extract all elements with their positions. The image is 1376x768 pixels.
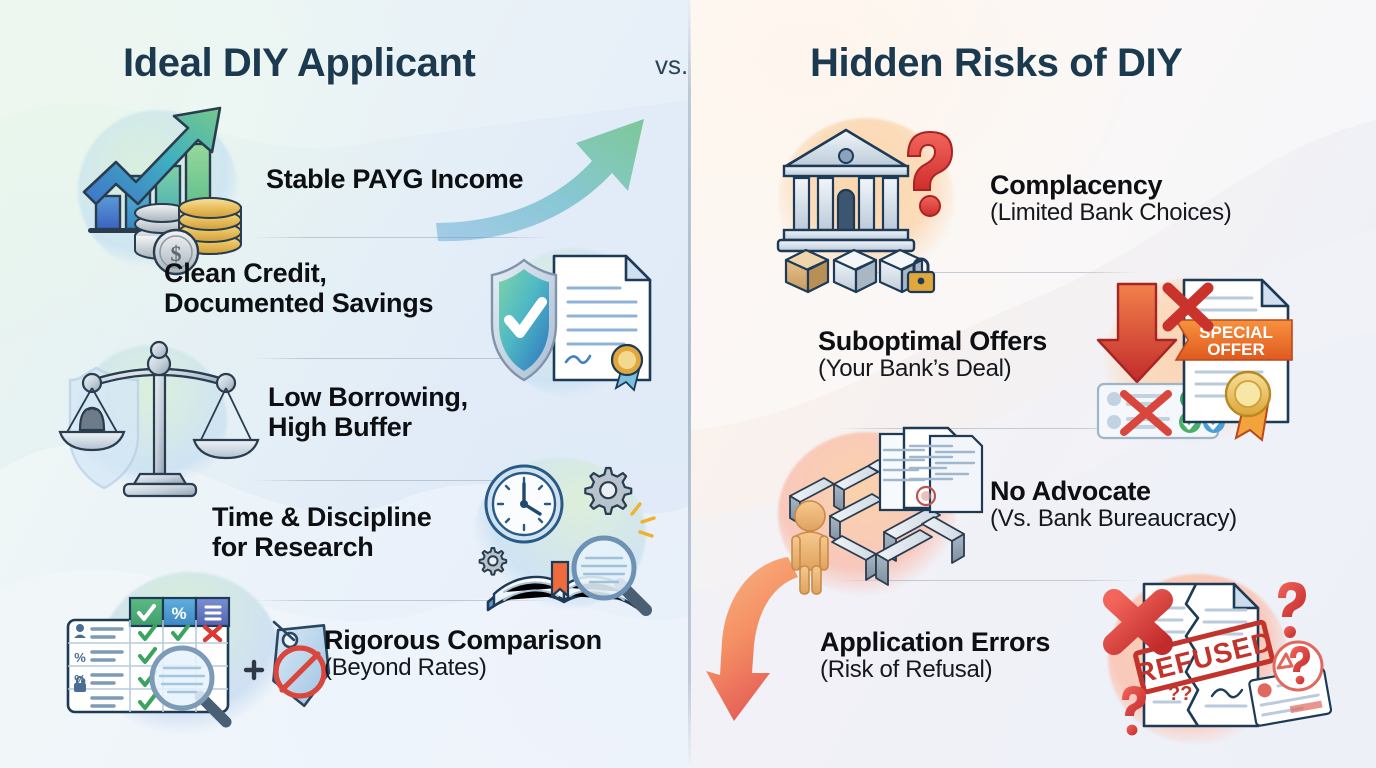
left-column-title: Ideal DIY Applicant	[123, 41, 475, 86]
left-item-4: Time & Discipline for Research	[212, 502, 431, 562]
left-item-2: Clean Credit, Documented Savings	[164, 258, 433, 318]
shield-check-certificate-icon	[490, 240, 670, 400]
left-item-2-text: Clean Credit, Documented Savings	[164, 258, 433, 318]
left-item-4-title: Time & Discipline	[212, 502, 431, 532]
right-item-2-subtitle: (Your Bank’s Deal)	[818, 356, 1047, 383]
left-item-5-title: Rigorous Comparison	[324, 625, 602, 655]
vs-label: vs.	[655, 50, 688, 81]
right-item-3-subtitle: (Vs. Bank Bureaucracy)	[990, 506, 1237, 533]
bank-question-boxes-icon	[780, 120, 970, 288]
right-item-2: Suboptimal Offers (Your Bank’s Deal)	[818, 326, 1047, 383]
right-item-3: No Advocate (Vs. Bank Bureaucracy)	[990, 476, 1237, 533]
left-item-4-title2: for Research	[212, 532, 431, 562]
infographic-canvas: Ideal DIY Applicant vs. Hidden Risks of …	[0, 0, 1376, 768]
left-item-2-title: Clean Credit,	[164, 258, 433, 288]
svg-text:%: %	[74, 650, 86, 665]
left-item-3: Low Borrowing, High Buffer	[268, 382, 468, 442]
right-item-3-text: No Advocate (Vs. Bank Bureaucracy)	[990, 476, 1237, 533]
right-item-1: Complacency (Limited Bank Choices)	[990, 170, 1232, 227]
vertical-divider	[688, 0, 691, 768]
svg-text:%: %	[74, 672, 86, 687]
right-item-3-title: No Advocate	[990, 476, 1237, 506]
left-item-1-title: Stable PAYG Income	[266, 164, 523, 194]
right-column-title: Hidden Risks of DIY	[810, 41, 1182, 86]
right-item-1-title: Complacency	[990, 170, 1232, 200]
left-item-2-title2: Documented Savings	[164, 288, 433, 318]
growth-chart-coins-icon: $	[70, 100, 270, 280]
clock-book-magnifier-icon	[468, 452, 668, 617]
special-offer-document-icon: SPECIAL OFFER	[1092, 272, 1312, 452]
left-item-5-text: Rigorous Comparison (Beyond Rates)	[324, 625, 602, 682]
comparison-table-magnifier-icon: % % %	[60, 588, 340, 738]
left-item-1: Stable PAYG Income	[266, 164, 523, 194]
right-item-4-subtitle: (Risk of Refusal)	[820, 657, 1050, 684]
left-item-1-text: Stable PAYG Income	[266, 164, 523, 194]
left-item-5: Rigorous Comparison (Beyond Rates)	[324, 625, 602, 682]
right-item-2-title: Suboptimal Offers	[818, 326, 1047, 356]
right-item-1-text: Complacency (Limited Bank Choices)	[990, 170, 1232, 227]
right-item-4-text: Application Errors (Risk of Refusal)	[820, 627, 1050, 684]
left-item-3-title2: High Buffer	[268, 412, 468, 442]
right-item-2-text: Suboptimal Offers (Your Bank’s Deal)	[818, 326, 1047, 383]
right-item-4: Application Errors (Risk of Refusal)	[820, 627, 1050, 684]
svg-text:%: %	[171, 604, 186, 623]
left-item-3-text: Low Borrowing, High Buffer	[268, 382, 468, 442]
left-item-3-title: Low Borrowing,	[268, 382, 468, 412]
left-item-5-subtitle: (Beyond Rates)	[324, 655, 602, 682]
special-offer-line2: OFFER	[1207, 340, 1265, 359]
right-item-1-subtitle: (Limited Bank Choices)	[990, 200, 1232, 227]
refused-document-icon: ?? REFUSED	[1100, 570, 1350, 750]
left-separator-1	[252, 237, 552, 238]
maze-person-documents-icon	[772, 424, 992, 599]
right-item-4-title: Application Errors	[820, 627, 1050, 657]
balance-scale-shield-icon	[62, 338, 262, 504]
left-item-4-text: Time & Discipline for Research	[212, 502, 431, 562]
